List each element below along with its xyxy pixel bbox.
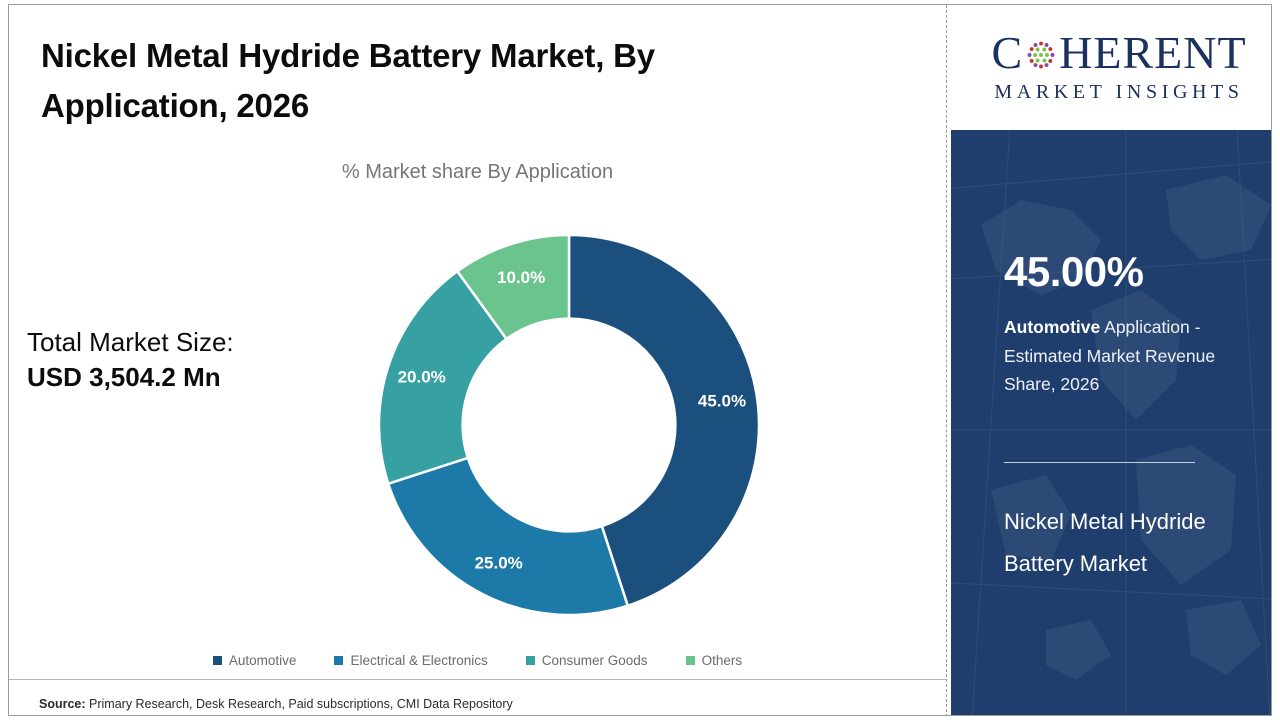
globe-icon <box>1024 38 1058 72</box>
legend-label-electrical-electronics: Electrical & Electronics <box>350 653 487 668</box>
legend-swatch-electrical-electronics <box>334 656 343 665</box>
stat-percentage: 45.00% <box>1004 248 1143 296</box>
side-panel-content: 45.00% Automotive Application - Estimate… <box>951 130 1272 716</box>
donut-label-electrical-electronics: 25.0% <box>475 554 523 573</box>
brand-logo: C <box>961 17 1272 121</box>
donut-slice-electrical-electronics[interactable] <box>388 458 627 615</box>
donut-chart-svg: 45.0%25.0%20.0%10.0% <box>377 233 761 617</box>
donut-label-automotive: 45.0% <box>698 391 746 410</box>
stat-description-bold: Automotive <box>1004 317 1100 337</box>
vertical-divider <box>946 5 947 716</box>
panel-divider <box>1004 462 1195 463</box>
chart-region: Nickel Metal Hydride Battery Market, By … <box>9 5 946 716</box>
legend-swatch-others <box>686 656 695 665</box>
chart-subtitle: % Market share By Application <box>9 161 946 184</box>
source-label: Source: <box>39 697 86 711</box>
donut-chart: 45.0%25.0%20.0%10.0% <box>377 233 761 617</box>
logo-wordmark: C <box>969 29 1269 77</box>
donut-label-others: 10.0% <box>497 268 545 287</box>
legend-item-electrical-electronics[interactable]: Electrical & Electronics <box>334 653 487 668</box>
infographic-card: Nickel Metal Hydride Battery Market, By … <box>8 4 1272 716</box>
legend-item-others[interactable]: Others <box>686 653 743 668</box>
logo-letter-c: C <box>991 30 1023 76</box>
legend-item-consumer-goods[interactable]: Consumer Goods <box>526 653 648 668</box>
source-text: Primary Research, Desk Research, Paid su… <box>86 697 513 711</box>
panel-market-name: Nickel Metal Hydride Battery Market <box>1004 501 1254 585</box>
legend-item-automotive[interactable]: Automotive <box>213 653 297 668</box>
side-panel: 45.00% Automotive Application - Estimate… <box>951 130 1272 716</box>
market-size-label: Total Market Size: <box>27 327 234 357</box>
total-market-size: Total Market Size: USD 3,504.2 Mn <box>27 325 327 396</box>
legend-swatch-consumer-goods <box>526 656 535 665</box>
chart-legend: AutomotiveElectrical & ElectronicsConsum… <box>9 653 946 668</box>
source-line: Source: Primary Research, Desk Research,… <box>39 697 513 711</box>
legend-label-others: Others <box>702 653 743 668</box>
legend-label-automotive: Automotive <box>229 653 297 668</box>
legend-swatch-automotive <box>213 656 222 665</box>
page-title: Nickel Metal Hydride Battery Market, By … <box>41 31 801 131</box>
donut-slice-group <box>379 235 759 615</box>
market-size-value: USD 3,504.2 Mn <box>27 360 327 395</box>
logo-subtitle: MARKET INSIGHTS <box>969 81 1269 104</box>
logo-word-coherent: HERENT <box>1059 30 1246 76</box>
stat-description: Automotive Application - Estimated Marke… <box>1004 313 1256 399</box>
donut-label-consumer-goods: 20.0% <box>398 368 446 387</box>
legend-label-consumer-goods: Consumer Goods <box>542 653 648 668</box>
